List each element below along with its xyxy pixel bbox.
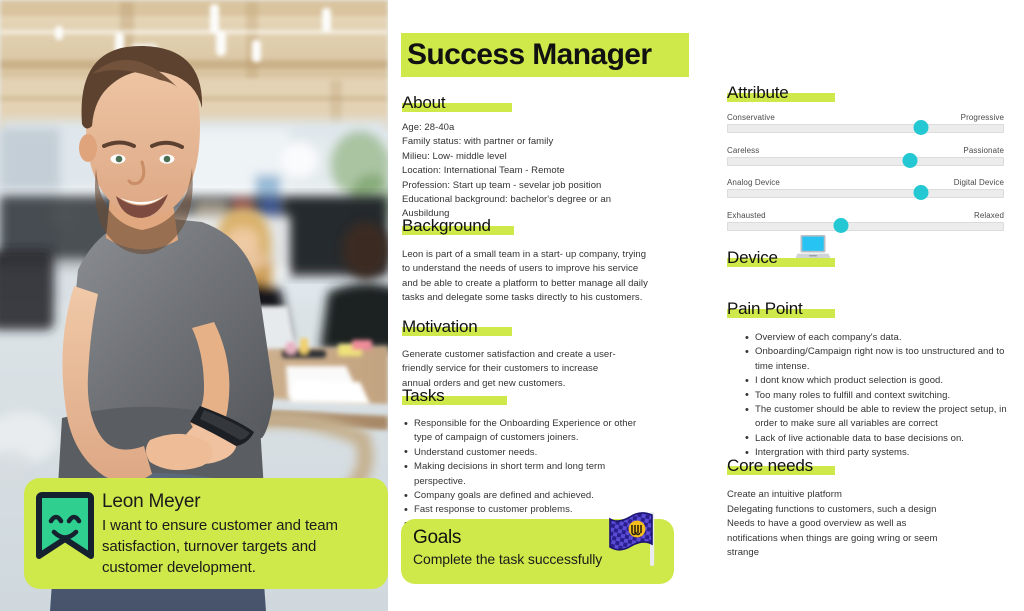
slider-analog-digital-device[interactable]: Analog Device Digital Device — [727, 178, 1004, 198]
motivation-text: Generate customer satisfaction and creat… — [402, 348, 624, 391]
section-motivation: Motivation Generate customer satisfactio… — [402, 317, 624, 391]
background-heading: Background — [402, 216, 493, 236]
device-heading-text: Device — [727, 248, 780, 267]
tasks-heading: Tasks — [402, 386, 446, 406]
list-item: Lack of live actionable data to base dec… — [743, 432, 1008, 446]
list-item: Onboarding/Campaign right now is too uns… — [743, 345, 1008, 374]
slider-left-label: Careless — [727, 146, 759, 155]
slider-left-label: Analog Device — [727, 178, 780, 187]
slider-left-label: Conservative — [727, 113, 775, 122]
slider-knob[interactable] — [902, 153, 917, 168]
core-needs-line: Needs to have a good overview as well as… — [727, 517, 947, 561]
list-item: I dont know which product selection is g… — [743, 374, 1008, 388]
background-heading-text: Background — [402, 216, 493, 235]
about-heading: About — [402, 93, 447, 113]
list-item: Company goals are defined and achieved. — [402, 489, 650, 503]
about-heading-text: About — [402, 93, 447, 112]
core-needs-line: Delegating functions to customers, such … — [727, 503, 947, 518]
about-line: Family status: with partner or family — [402, 135, 654, 149]
core-needs-line: Create an intuitive platform — [727, 488, 947, 503]
device-heading: Device — [727, 248, 780, 268]
about-line: Location: International Team - Remote — [402, 164, 654, 178]
person-quote: I want to ensure customer and team satis… — [102, 515, 376, 578]
pain-point-heading: Pain Point — [727, 299, 805, 319]
slider-left-label: Exhausted — [727, 211, 766, 220]
slider-conservative-progressive[interactable]: Conservative Progressive — [727, 113, 1004, 133]
background-text: Leon is part of a small team in a start-… — [402, 248, 648, 306]
core-needs-heading: Core needs — [727, 456, 815, 476]
pain-point-heading-text: Pain Point — [727, 299, 805, 318]
smiling-bookmark-avatar-icon — [34, 490, 96, 564]
slider-track[interactable] — [727, 157, 1004, 166]
slider-right-label: Passionate — [963, 146, 1004, 155]
persona-photo: Leon Meyer I want to ensure customer and… — [0, 0, 388, 611]
slider-track[interactable] — [727, 124, 1004, 133]
persona-name-card: Leon Meyer I want to ensure customer and… — [24, 478, 388, 589]
slider-right-label: Relaxed — [974, 211, 1004, 220]
list-item: Too many roles to fulfill and context sw… — [743, 389, 1008, 403]
list-item: Overview of each company's data. — [743, 331, 1008, 345]
core-needs-heading-text: Core needs — [727, 456, 815, 475]
section-attribute: Attribute Conservative Progressive Carel… — [727, 83, 1004, 231]
page-title-text: Success Manager — [401, 38, 651, 72]
list-item: Making decisions in short term and long … — [402, 460, 650, 489]
section-core-needs: Core needs Create an intuitive platform … — [727, 456, 947, 561]
slider-right-label: Digital Device — [954, 178, 1004, 187]
section-about: About Age: 28-40a Family status: with pa… — [402, 93, 654, 222]
page-title: Success Manager — [401, 33, 689, 77]
slider-knob[interactable] — [913, 120, 928, 135]
section-pain-point: Pain Point Overview of each company's da… — [727, 299, 1008, 461]
persona-board: Leon Meyer I want to ensure customer and… — [0, 0, 1024, 611]
section-device: Device — [727, 226, 887, 274]
about-line: Profession: Start up team - sevelar job … — [402, 179, 654, 193]
tasks-heading-text: Tasks — [402, 386, 446, 405]
goals-card: Goals Complete the task successfully — [401, 519, 674, 584]
pain-point-list: Overview of each company's data. Onboard… — [727, 331, 1008, 461]
slider-right-label: Progressive — [961, 113, 1004, 122]
slider-track[interactable] — [727, 189, 1004, 198]
list-item: The customer should be able to review th… — [743, 403, 1008, 432]
avatar — [34, 490, 96, 569]
about-line: Milieu: Low- middle level — [402, 150, 654, 164]
right-column: Attribute Conservative Progressive Carel… — [727, 0, 1009, 611]
person-name: Leon Meyer — [102, 490, 376, 514]
about-line: Age: 28-40a — [402, 121, 654, 135]
list-item: Understand customer needs. — [402, 446, 650, 460]
checkered-flag-icon — [606, 510, 666, 568]
motivation-heading: Motivation — [402, 317, 479, 337]
slider-knob[interactable] — [913, 185, 928, 200]
section-background: Background Leon is part of a small team … — [402, 216, 648, 306]
attribute-heading-text: Attribute — [727, 83, 791, 102]
slider-careless-passionate[interactable]: Careless Passionate — [727, 146, 1004, 166]
attribute-heading: Attribute — [727, 83, 791, 103]
motivation-heading-text: Motivation — [402, 317, 479, 336]
list-item: Responsible for the Onboarding Experienc… — [402, 417, 650, 446]
